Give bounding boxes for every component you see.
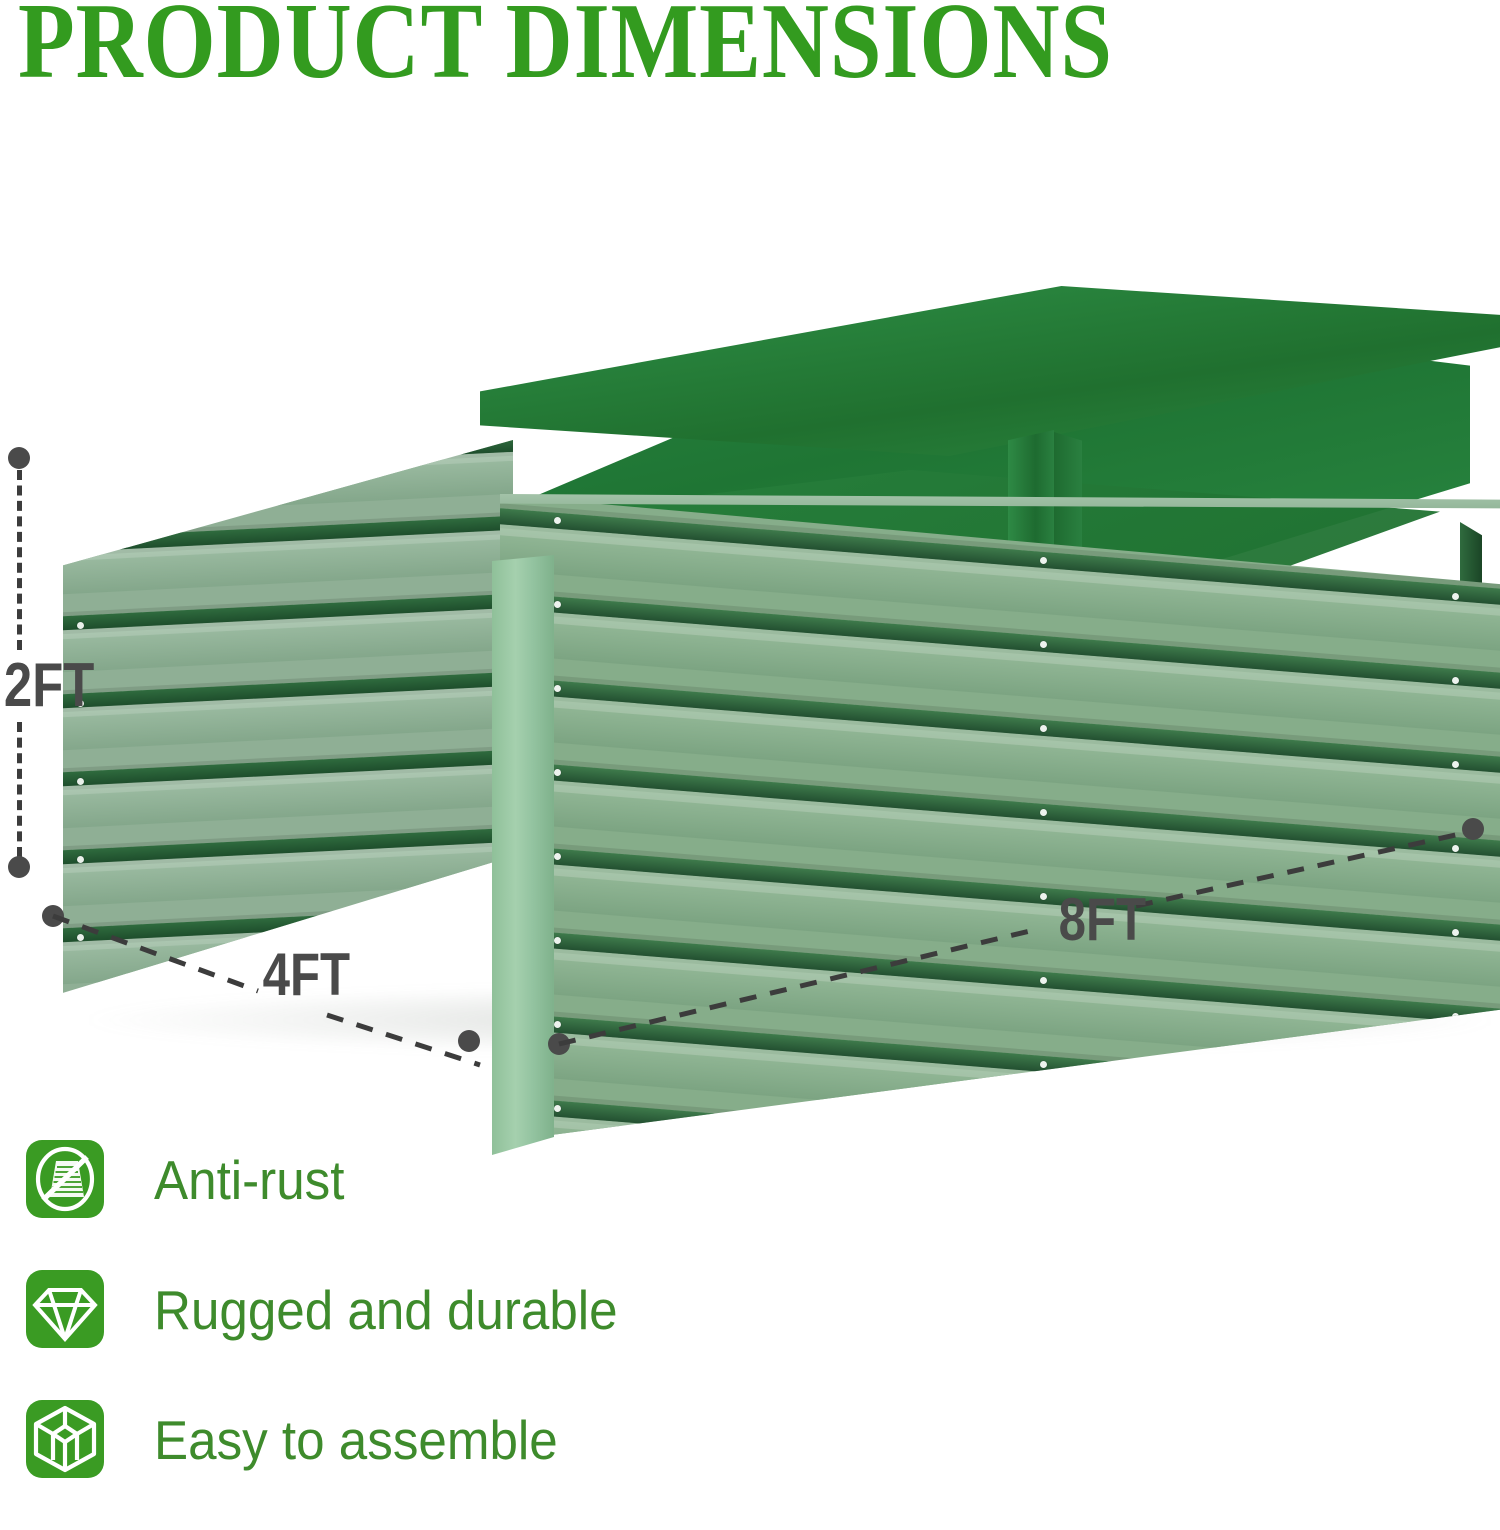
long-front-panel-8ft xyxy=(500,495,1500,1155)
width-dim-dot-right xyxy=(458,1030,480,1052)
length-dim-label: 8FT xyxy=(1059,885,1146,954)
panel-screw xyxy=(77,544,84,551)
panel-screw xyxy=(1452,1097,1459,1104)
feature-item-easy-assemble: Easy to assemble xyxy=(26,1400,926,1530)
panel-screw xyxy=(1452,677,1459,684)
cube-box-icon xyxy=(26,1400,104,1478)
no-rust-icon xyxy=(26,1140,104,1218)
panel-screw xyxy=(77,622,84,629)
panel-band xyxy=(63,453,513,518)
panel-screw xyxy=(1040,641,1047,648)
width-dim-label: 4FT xyxy=(263,940,350,1009)
panel-screw xyxy=(554,685,561,692)
feature-label: Anti-rust xyxy=(154,1146,344,1214)
feature-list: Anti-rust Rugged and durable xyxy=(26,1140,926,1530)
panel-screw xyxy=(554,517,561,524)
panel-screw xyxy=(77,466,84,473)
length-dim-line xyxy=(548,830,1500,1050)
panel-screw xyxy=(1040,1145,1047,1152)
panel-screw xyxy=(1040,1061,1047,1068)
panel-screw xyxy=(1040,557,1047,564)
panel-screw xyxy=(77,778,84,785)
height-dim-line-upper xyxy=(17,470,22,650)
feature-item-rugged-durable: Rugged and durable xyxy=(26,1270,926,1400)
feature-label: Easy to assemble xyxy=(154,1406,558,1474)
panel-screw xyxy=(77,856,84,863)
height-dim-dot-top xyxy=(8,447,30,469)
height-dim-line-lower xyxy=(17,722,22,857)
panel-screw xyxy=(1040,725,1047,732)
page-title: PRODUCT DIMENSIONS xyxy=(18,0,1113,96)
panel-screw xyxy=(554,601,561,608)
panel-screw xyxy=(1452,593,1459,600)
length-dim-dot-right xyxy=(1462,818,1484,840)
feature-label: Rugged and durable xyxy=(154,1276,618,1344)
diamond-gem-icon xyxy=(26,1270,104,1348)
panel-screw xyxy=(554,769,561,776)
height-dim-label: 2FT xyxy=(4,650,94,721)
height-dim-dot-bottom xyxy=(8,856,30,878)
panel-screw xyxy=(1040,809,1047,816)
panel-screw xyxy=(1452,761,1459,768)
feature-item-anti-rust: Anti-rust xyxy=(26,1140,926,1270)
panel-screw xyxy=(554,1105,561,1112)
